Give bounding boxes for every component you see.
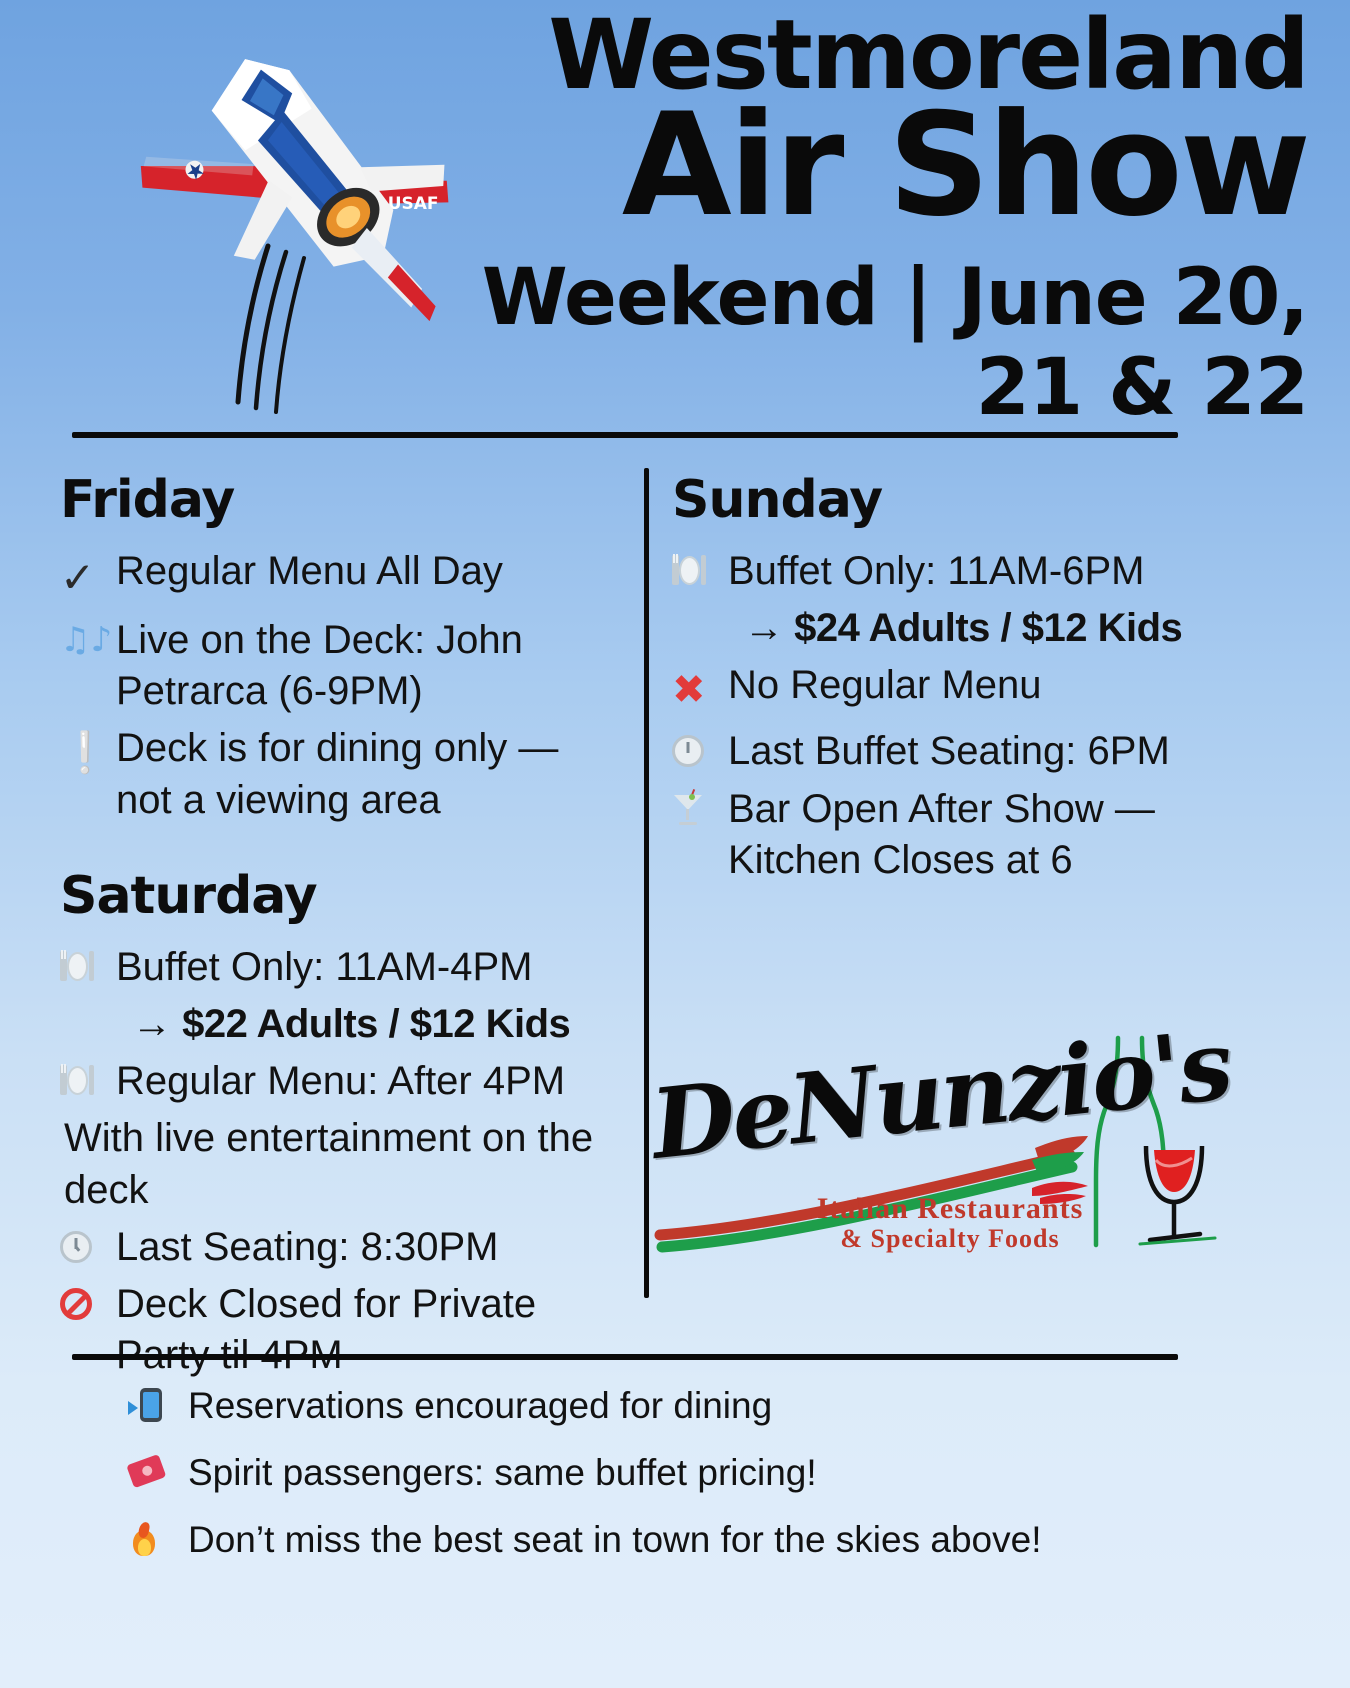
divider-top: [72, 432, 1178, 438]
plate-cutlery-icon: [60, 942, 112, 993]
footer: Reservations encouraged for dining Spiri…: [130, 1380, 1250, 1581]
plate-cutlery-icon: [672, 546, 724, 597]
saturday-items: Buffet Only: 11AM-4PM → $22 Adults / $12…: [60, 942, 620, 1382]
cross-mark-icon: ✖: [672, 660, 724, 720]
list-item-label: Regular Menu All Day: [114, 546, 620, 597]
divider-bottom: [72, 1354, 1178, 1360]
list-item-label: Bar Open After Show — Kitchen Closes at …: [726, 784, 1232, 886]
air-show-flyer: USAF: [0, 0, 1350, 1688]
footer-label: Spirit passengers: same buffet pricing!: [186, 1452, 1250, 1494]
list-item-label: Last Buffet Seating: 6PM: [726, 726, 1232, 777]
list-item: Deck Closed for Private Party til 4PM: [60, 1279, 620, 1381]
list-item: ❕ Deck is for dining only — not a viewin…: [60, 723, 620, 825]
martini-glass-icon: [672, 784, 724, 835]
footer-row: Don’t miss the best seat in town for the…: [130, 1514, 1250, 1565]
list-item-label: Buffet Only: 11AM-6PM: [726, 546, 1232, 597]
fire-icon: [130, 1514, 184, 1565]
friday-items: ✓ Regular Menu All Day ♫♪ Live on the De…: [60, 546, 620, 826]
list-item-label: Deck Closed for Private Party til 4PM: [114, 1279, 620, 1381]
footer-label: Don’t miss the best seat in town for the…: [186, 1519, 1250, 1561]
footer-label: Reservations encouraged for dining: [186, 1385, 1250, 1427]
list-item: Bar Open After Show — Kitchen Closes at …: [672, 784, 1232, 886]
music-notes-icon: ♫♪: [60, 615, 112, 666]
list-item-note: With live entertainment on the deck: [60, 1113, 620, 1215]
list-item-price: → $24 Adults / $12 Kids: [672, 603, 1232, 654]
day-heading-friday: Friday: [60, 470, 620, 530]
day-heading-saturday: Saturday: [60, 866, 620, 926]
logo-tagline-line-1: Italian Restaurants: [790, 1192, 1110, 1226]
clock-icon: [60, 1222, 112, 1273]
note-label: With live entertainment on the deck: [60, 1113, 620, 1215]
exclamation-mark-icon: ❕: [60, 723, 112, 783]
logo-tagline-line-2: & Specialty Foods: [790, 1224, 1110, 1254]
list-item-label: Last Seating: 8:30PM: [114, 1222, 620, 1273]
mobile-phone-arrow-icon: [130, 1380, 184, 1431]
footer-row: Spirit passengers: same buffet pricing!: [130, 1447, 1250, 1498]
list-item: Last Buffet Seating: 6PM: [672, 726, 1232, 777]
list-item: ♫♪ Live on the Deck: John Petrarca (6-9P…: [60, 615, 620, 717]
footer-row: Reservations encouraged for dining: [130, 1380, 1250, 1431]
list-item: Regular Menu: After 4PM: [60, 1056, 620, 1107]
event-subtitle: Weekend | June 20, 21 & 22: [428, 253, 1308, 433]
list-item-label: Regular Menu: After 4PM: [114, 1056, 620, 1107]
list-item-label: Live on the Deck: John Petrarca (6-9PM): [114, 615, 620, 717]
title-block: Westmoreland Air Show Weekend | June 20,…: [428, 8, 1308, 433]
clock-half-icon: [672, 726, 724, 777]
fighter-jet-icon: USAF: [118, 14, 468, 414]
list-item: Buffet Only: 11AM-6PM: [672, 546, 1232, 597]
sunday-items: Buffet Only: 11AM-6PM → $24 Adults / $12…: [672, 546, 1232, 886]
check-mark-icon: ✓: [60, 546, 112, 609]
list-item-label: Deck is for dining only — not a viewing …: [114, 723, 620, 825]
price-label: → $24 Adults / $12 Kids: [726, 603, 1232, 654]
list-item: Last Seating: 8:30PM: [60, 1222, 620, 1273]
day-heading-sunday: Sunday: [672, 470, 1232, 530]
list-item: Buffet Only: 11AM-4PM: [60, 942, 620, 993]
logo-tagline: Italian Restaurants & Specialty Foods: [790, 1192, 1110, 1254]
list-item-price: → $22 Adults / $12 Kids: [60, 999, 620, 1050]
title-line-2: Air Show: [428, 96, 1308, 235]
schedule-column-right: Sunday Buffet Only: 11AM-6PM → $24 Adult…: [672, 470, 1232, 892]
schedule-column-left: Friday ✓ Regular Menu All Day ♫♪ Live on…: [60, 470, 620, 1387]
list-item: ✖ No Regular Menu: [672, 660, 1232, 720]
list-item: ✓ Regular Menu All Day: [60, 546, 620, 609]
prohibited-icon: [60, 1279, 112, 1330]
list-item-label: Buffet Only: 11AM-4PM: [114, 942, 620, 993]
denunzios-logo: DeNunzio's Italian Restaurants & Special…: [640, 1020, 1220, 1280]
list-item-label: No Regular Menu: [726, 660, 1232, 711]
price-label: → $22 Adults / $12 Kids: [114, 999, 620, 1050]
ticket-icon: [130, 1447, 184, 1498]
header: USAF: [0, 0, 1350, 420]
plate-cutlery-icon: [60, 1056, 112, 1107]
